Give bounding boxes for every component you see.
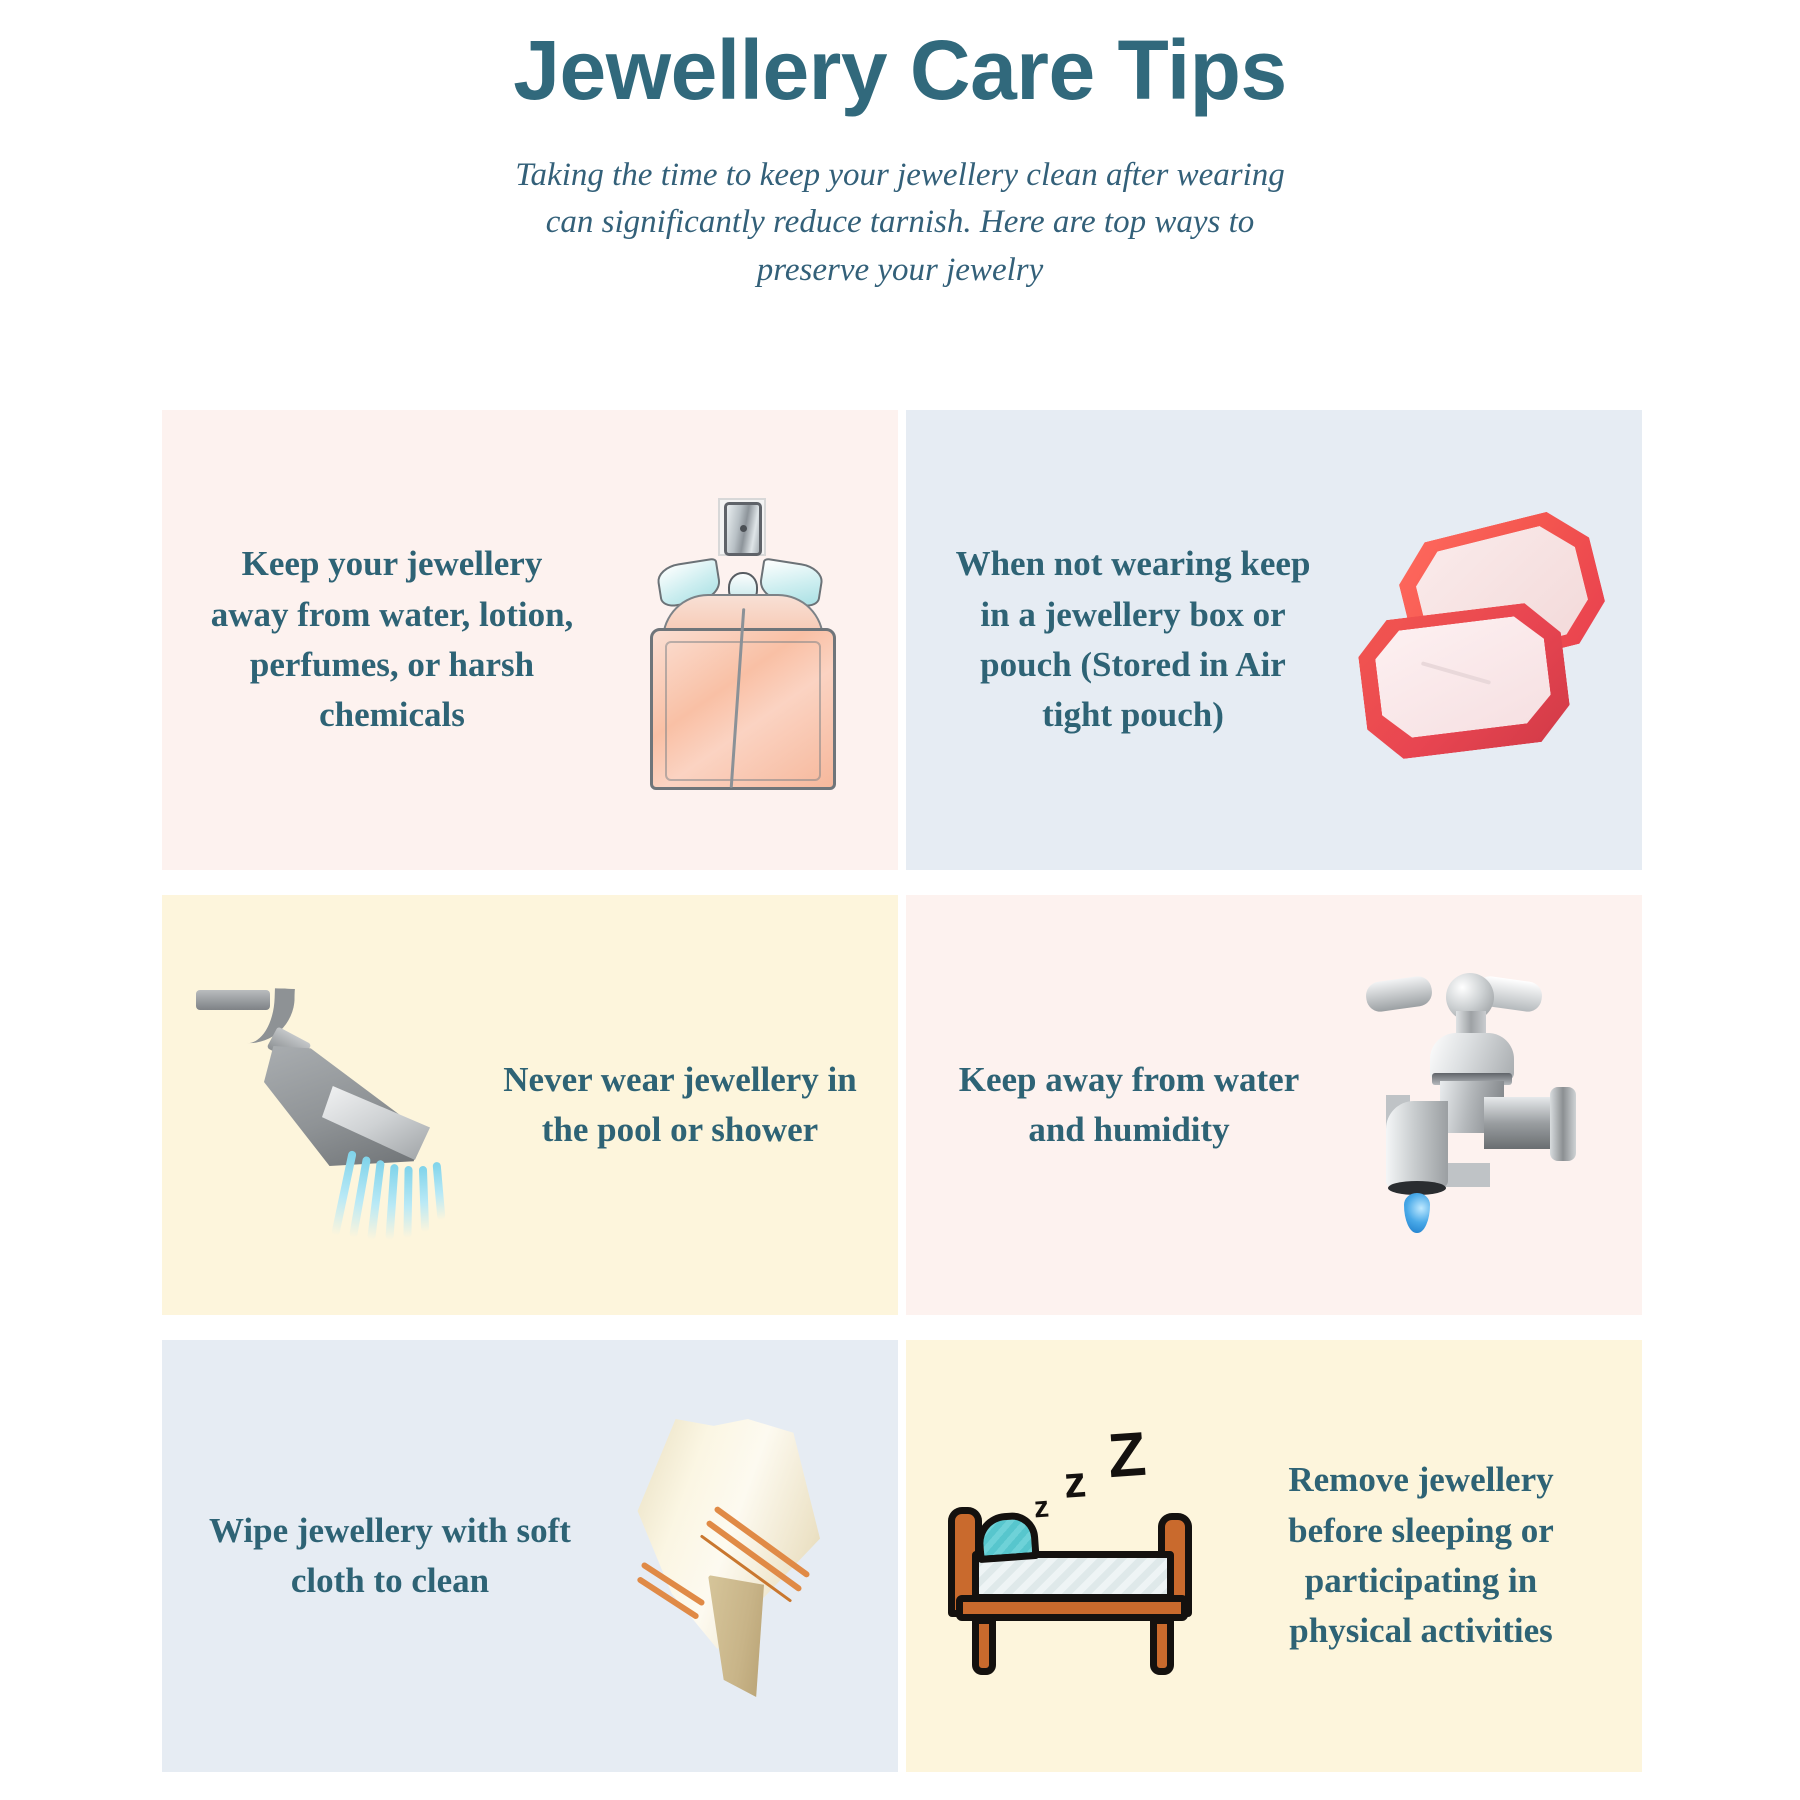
page-subtitle: Taking the time to keep your jewellery c… (500, 152, 1300, 294)
tip-card-4-label: Keep away from water and humidity (939, 1055, 1319, 1156)
tip-card-2-label: When not wearing keep in a jewellery box… (933, 539, 1333, 741)
tip-card-1-label: Keep your jewellery away from water, lot… (192, 539, 592, 741)
tip-card-3[interactable]: Never wear jewellery in the pool or show… (162, 895, 898, 1315)
tips-grid: Keep your jewellery away from water, lot… (162, 410, 1638, 1772)
tip-card-6[interactable]: z z Z Remove jewellery before sleeping o… (906, 1340, 1642, 1772)
tip-card-3-label: Never wear jewellery in the pool or show… (490, 1055, 870, 1156)
tip-card-4[interactable]: Keep away from water and humidity (906, 895, 1642, 1315)
water-drop-icon (1404, 1193, 1430, 1233)
tip-card-5[interactable]: Wipe jewellery with soft cloth to clean (162, 1340, 898, 1772)
tip-card-6-label: Remove jewellery before sleeping or part… (1236, 1455, 1606, 1657)
header: Jewellery Care Tips Taking the time to k… (0, 0, 1800, 294)
polishing-cloth-icon (585, 1391, 885, 1721)
page-title: Jewellery Care Tips (0, 26, 1800, 114)
bed-sleeping-icon: z z Z (916, 1411, 1236, 1701)
infographic-page: Jewellery Care Tips Taking the time to k… (0, 0, 1800, 1800)
perfume-bottle-icon (592, 475, 892, 805)
jewellery-box-icon (1333, 490, 1633, 790)
sleep-mark-small: z (1033, 1493, 1050, 1524)
shower-head-icon (170, 940, 490, 1270)
sleep-mark-large: Z (1106, 1424, 1148, 1488)
tip-card-1[interactable]: Keep your jewellery away from water, lot… (162, 410, 898, 870)
sleep-mark-medium: z (1062, 1460, 1087, 1505)
tip-card-2[interactable]: When not wearing keep in a jewellery box… (906, 410, 1642, 870)
tip-card-5-label: Wipe jewellery with soft cloth to clean (195, 1506, 585, 1607)
faucet-icon (1319, 940, 1639, 1270)
